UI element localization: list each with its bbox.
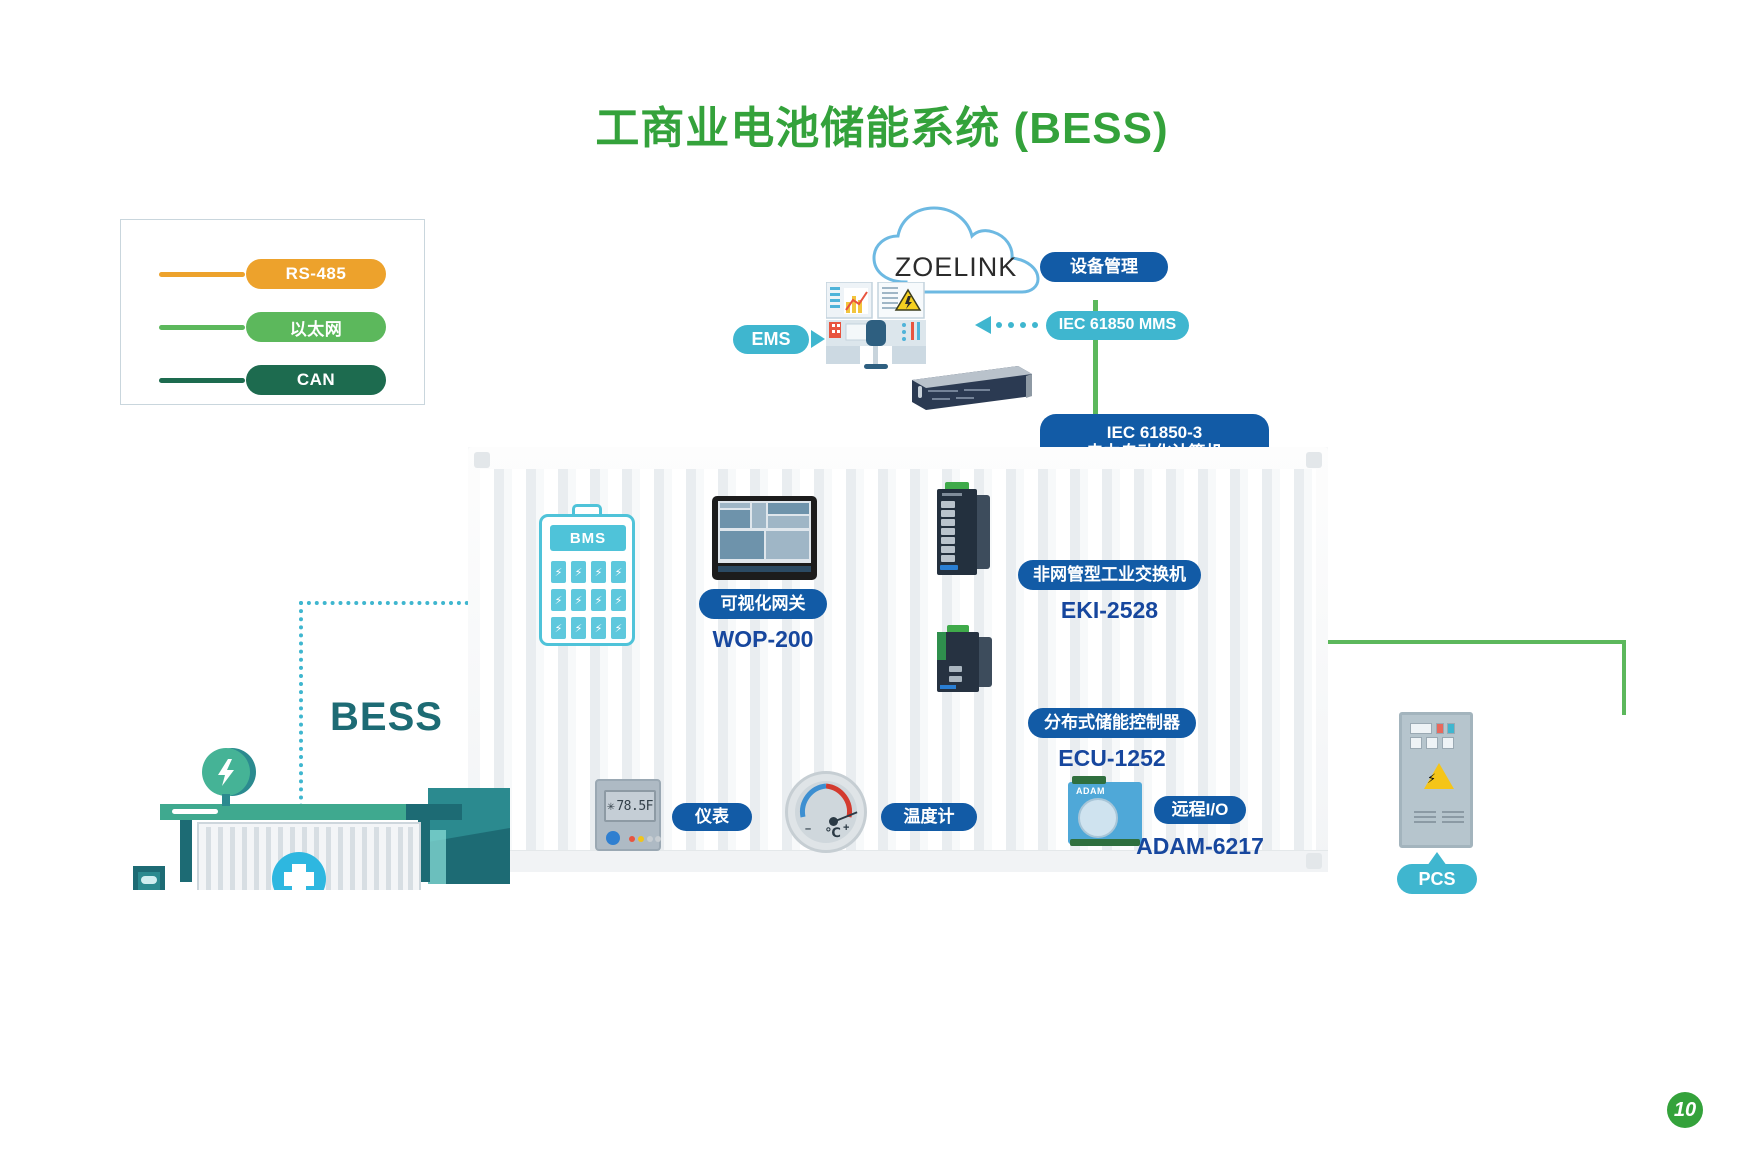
- cloud-brand-label: ZOELINK: [866, 252, 1046, 283]
- pill-ecu4784-line1: IEC 61850-3: [1107, 423, 1202, 443]
- bms-cell: ⚡: [591, 589, 606, 611]
- thermometer-plus: +: [843, 822, 849, 834]
- ecu1252-controller: [937, 632, 979, 692]
- meter-display: ✳ 78.5F: [604, 790, 656, 822]
- pcs-switch-teal: [1447, 723, 1455, 734]
- pill-eki2528: 非网管型工业交换机: [1018, 560, 1201, 590]
- pcs-breaker-row: [1410, 723, 1432, 734]
- container-corner-tr: [1306, 452, 1322, 468]
- meter-led-yellow: [638, 836, 644, 842]
- meter-led-gray1: [647, 836, 653, 842]
- meter-value: 78.5F: [616, 799, 653, 814]
- thermometer-face: ℃ – +: [795, 781, 857, 843]
- legend-line-can: [159, 378, 245, 383]
- ems-arrow: [811, 330, 827, 348]
- pcs-meter-1: [1410, 737, 1422, 749]
- pcs-vent: [1442, 811, 1464, 813]
- bms-battery-pack: BMS ⚡ ⚡ ⚡ ⚡ ⚡ ⚡ ⚡ ⚡ ⚡ ⚡ ⚡ ⚡: [539, 504, 635, 646]
- eki2528-brand-strip: [940, 565, 958, 570]
- ecu4784-rack-server: [912, 366, 1032, 404]
- meter-knob[interactable]: [606, 831, 620, 845]
- wire-switch-to-pcs-v: [1622, 640, 1626, 715]
- legend-item-rs485: RS-485: [121, 259, 426, 289]
- bms-cell: ⚡: [551, 561, 566, 583]
- pill-thermometer: 温度计: [881, 803, 977, 831]
- bms-body: BMS ⚡ ⚡ ⚡ ⚡ ⚡ ⚡ ⚡ ⚡ ⚡ ⚡ ⚡ ⚡: [539, 514, 635, 646]
- pcs-vent: [1442, 821, 1464, 823]
- pill-ems: EMS: [733, 325, 809, 354]
- legend-item-can: CAN: [121, 365, 426, 395]
- ecu1252-side: [979, 637, 992, 687]
- pill-adam6217: 远程I/O: [1154, 796, 1246, 824]
- meter-led-red: [629, 836, 635, 842]
- page-number-badge: 10: [1667, 1092, 1703, 1128]
- eki2528-port: [941, 519, 955, 526]
- pill-iec61850-mms: IEC 61850 MMS: [1046, 311, 1189, 340]
- bess-site-illustration: [110, 660, 510, 890]
- ecu1252-brand-strip: [940, 685, 956, 689]
- label-wop200-model: WOP-200: [699, 626, 827, 653]
- page-title: 工商业电池储能系统 (BESS): [0, 92, 1764, 156]
- dotted-link-horizontal: [299, 601, 469, 605]
- meter-device: ✳ 78.5F: [595, 779, 661, 851]
- eki2528-port: [941, 510, 955, 517]
- container-corner-tl: [474, 452, 490, 468]
- legend-pill-can: CAN: [246, 365, 386, 395]
- eki2528-side: [977, 495, 990, 569]
- bms-cell: ⚡: [571, 561, 586, 583]
- bms-cell: ⚡: [611, 561, 626, 583]
- thermometer-gauge: ℃ – +: [785, 771, 867, 853]
- wop200-screen: [718, 501, 811, 563]
- pcs-vent: [1414, 811, 1436, 813]
- legend-box: RS-485 以太网 CAN: [120, 219, 425, 405]
- wop200-bezel-strip: [718, 566, 811, 572]
- eki2528-port: [941, 528, 955, 535]
- eki2528-top-label: [942, 493, 962, 496]
- eki2528-switch: [937, 489, 977, 575]
- bms-cell: ⚡: [551, 617, 566, 639]
- arrow-left-icon: [975, 313, 1045, 337]
- legend-pill-ethernet: 以太网: [246, 312, 386, 342]
- thermometer-minus: –: [805, 823, 811, 835]
- bms-cell: ⚡: [591, 617, 606, 639]
- thermometer-hub: [829, 817, 838, 826]
- pill-wop200: 可视化网关: [699, 589, 827, 619]
- bms-cell: ⚡: [571, 617, 586, 639]
- mms-dotted-arrow: [975, 313, 1045, 337]
- pcs-vent: [1414, 821, 1436, 823]
- meter-sun-icon: ✳: [607, 799, 614, 814]
- adam6217-top-terminal: [1072, 776, 1106, 784]
- pcs-switch-red: [1436, 723, 1444, 734]
- eki2528-port: [941, 537, 955, 544]
- legend-line-rs485: [159, 272, 245, 277]
- bms-cell: ⚡: [551, 589, 566, 611]
- pill-meter: 仪表: [672, 803, 752, 831]
- ecu1252-terminal-block: [937, 632, 946, 660]
- bms-label: BMS: [550, 525, 626, 551]
- pcs-control-panel: [1410, 723, 1460, 749]
- legend-line-ethernet: [159, 325, 245, 330]
- pill-device-management: 设备管理: [1040, 252, 1168, 282]
- pcs-vent: [1442, 816, 1464, 818]
- eki2528-port: [941, 546, 955, 553]
- adam6217-faceplate: [1078, 798, 1118, 838]
- meter-led-gray2: [655, 836, 661, 842]
- container-corner-br: [1306, 853, 1322, 869]
- bms-cell: ⚡: [611, 617, 626, 639]
- pcs-hazard-bolt: ⚡: [1427, 771, 1436, 787]
- adam6217-brand-text: ADAM: [1076, 786, 1105, 796]
- bms-cell: ⚡: [571, 589, 586, 611]
- pill-ecu1252: 分布式储能控制器: [1028, 708, 1196, 738]
- ecu1252-port: [949, 666, 962, 672]
- pcs-cabinet: ⚡: [1399, 712, 1473, 848]
- pcs-meter-2: [1426, 737, 1438, 749]
- bms-cell: ⚡: [591, 561, 606, 583]
- eki2528-port: [941, 555, 955, 562]
- pill-pcs: PCS: [1397, 864, 1477, 894]
- label-bess-site: BESS: [330, 695, 443, 740]
- legend-pill-rs485: RS-485: [246, 259, 386, 289]
- bms-cell: ⚡: [611, 589, 626, 611]
- legend-item-ethernet: 以太网: [121, 312, 426, 342]
- label-adam6217-model: ADAM-6217: [1124, 833, 1276, 860]
- wop200-hmi-panel: [712, 496, 817, 580]
- arrow-right-icon: [811, 330, 827, 348]
- pcs-vent: [1414, 816, 1436, 818]
- pcs-meter-3: [1442, 737, 1454, 749]
- diagram-canvas: 工商业电池储能系统 (BESS) RS-485 以太网 CAN: [0, 0, 1764, 1172]
- ecu1252-port: [949, 676, 962, 682]
- label-eki2528-model: EKI-2528: [1018, 597, 1201, 624]
- eki2528-port: [941, 501, 955, 508]
- ems-workstation-illustration: [826, 282, 926, 378]
- label-ecu1252-model: ECU-1252: [1028, 745, 1196, 772]
